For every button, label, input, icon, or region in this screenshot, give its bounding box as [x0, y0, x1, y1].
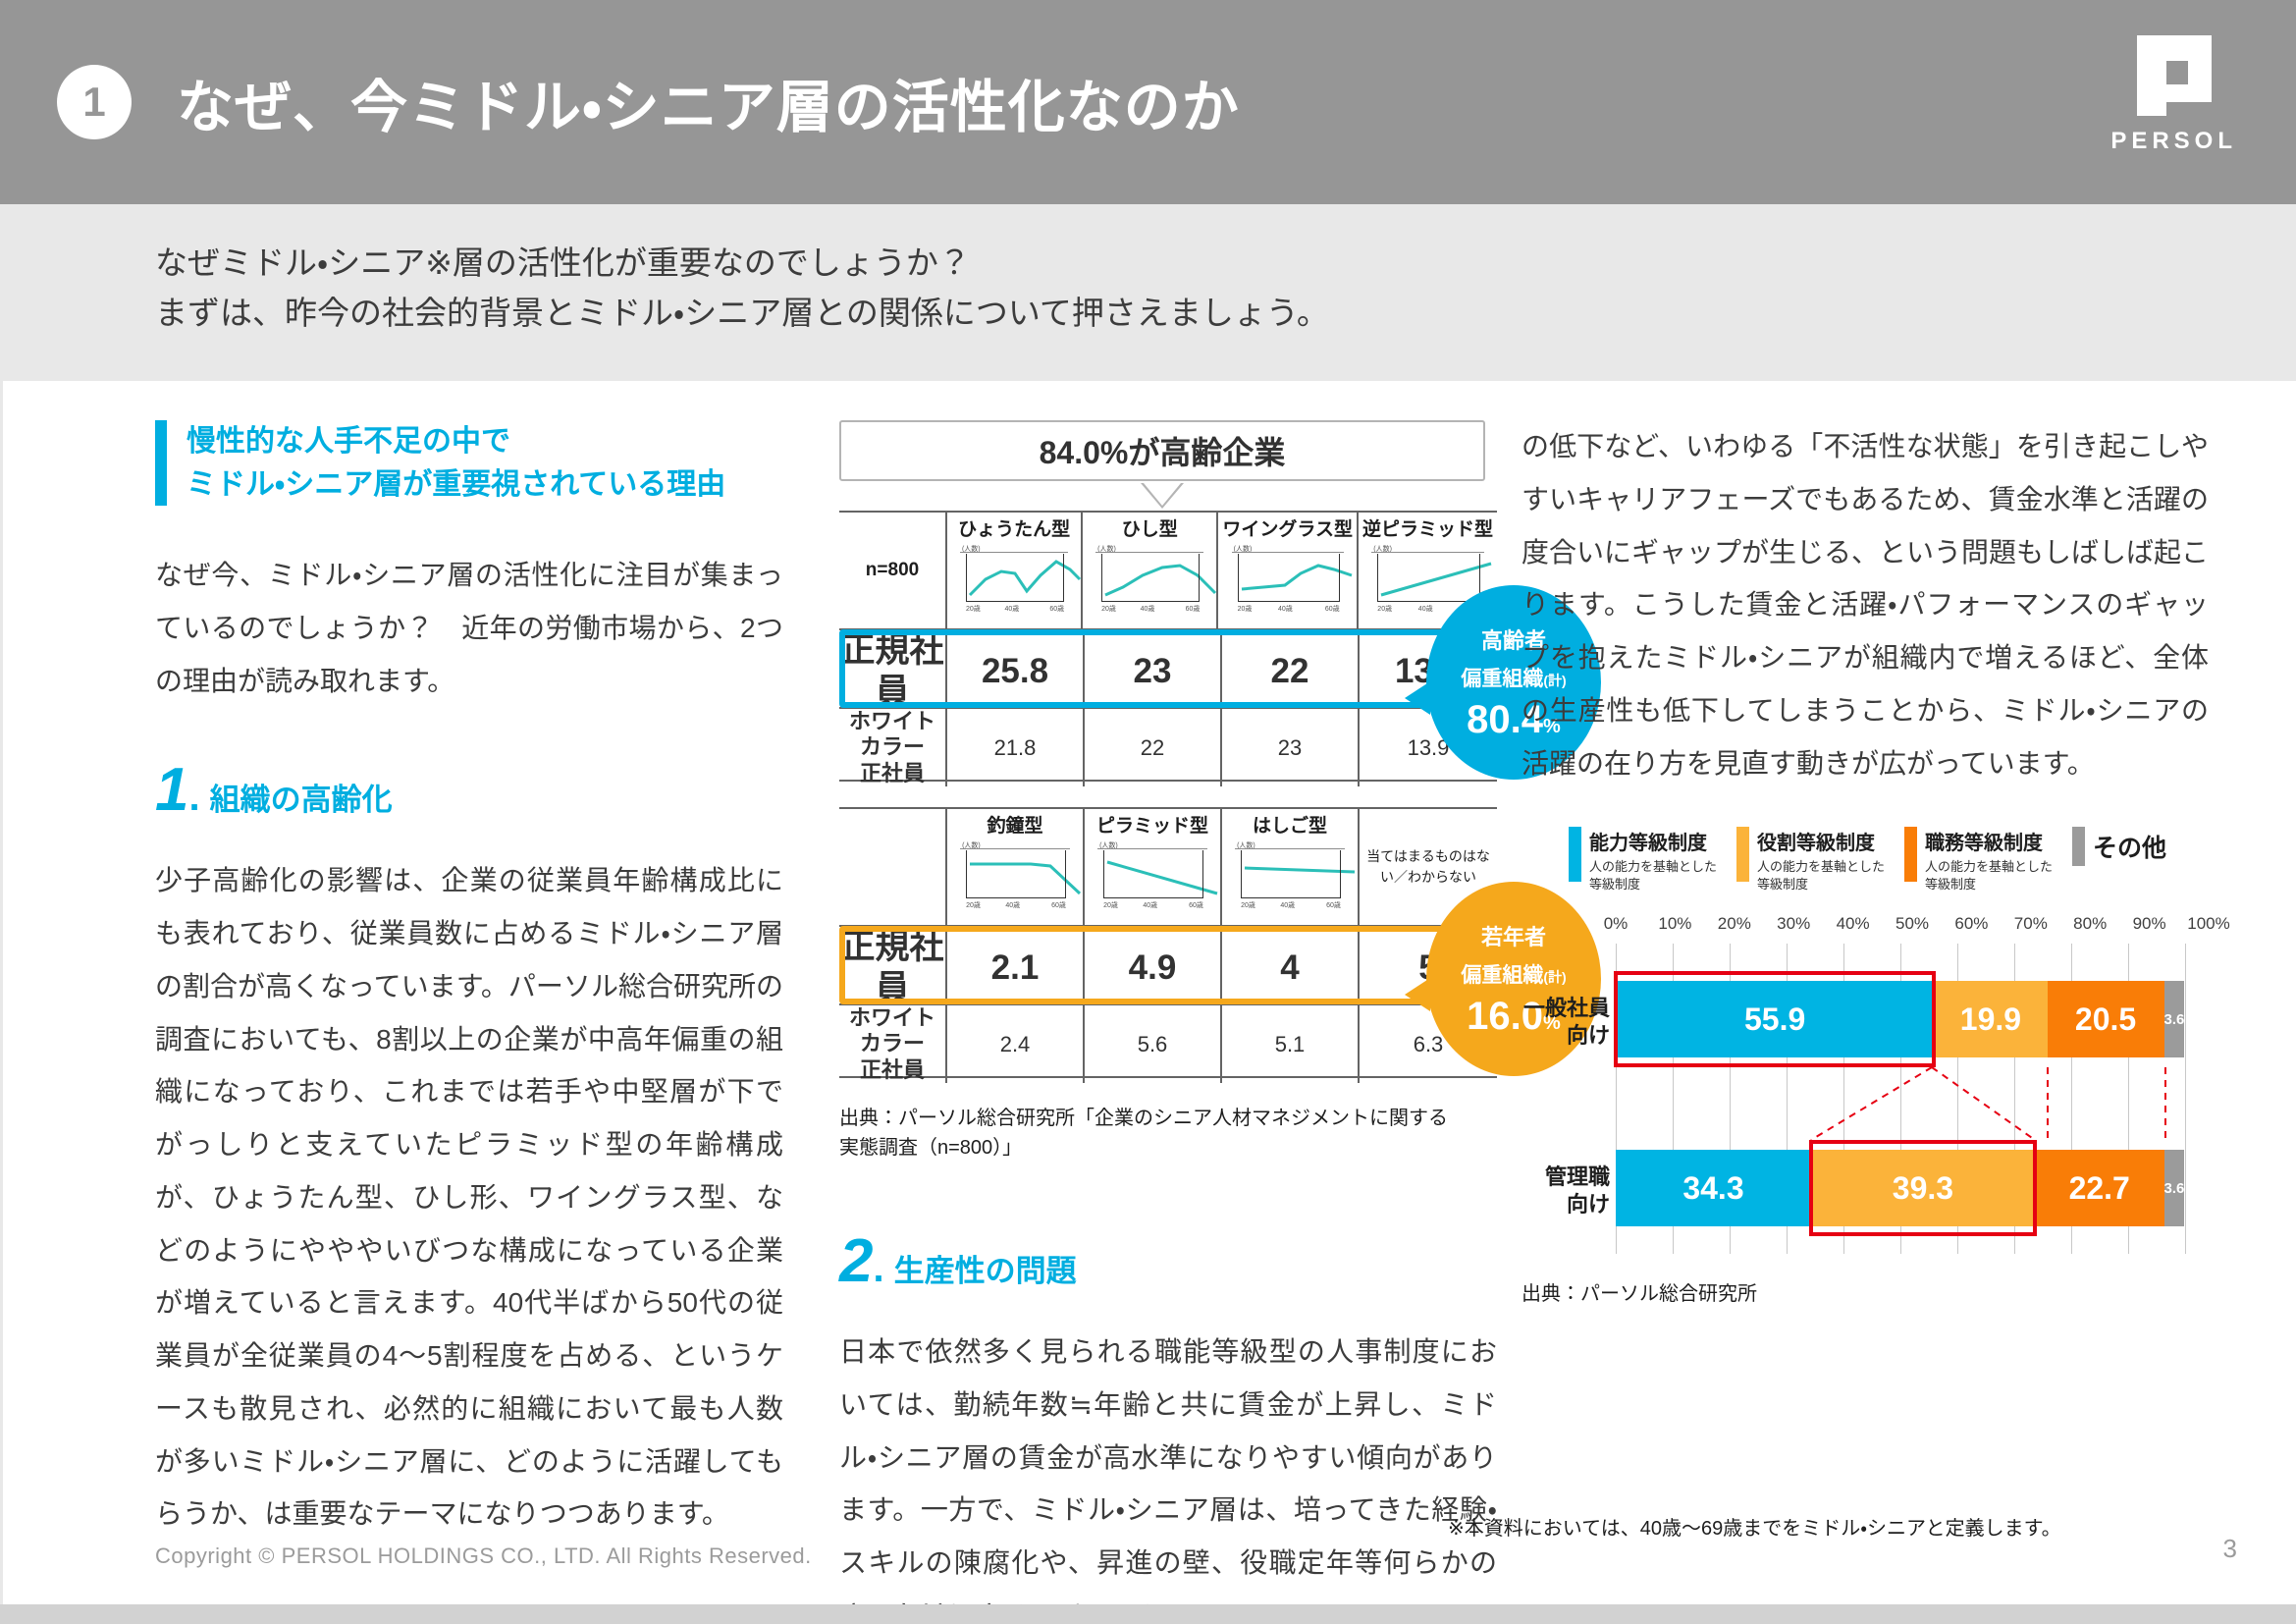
table-row: 正規社員 2.1 4.9 4 5: [839, 927, 1497, 1003]
col-title: はしご型: [1226, 809, 1354, 838]
right-source-note: 出典：パーソル総合研究所: [1522, 1279, 2209, 1309]
subtitle-band: なぜミドル・シニア※層の活性化が重要なのでしょうか？ まずは、昨今の社会的背景と…: [0, 204, 2296, 381]
section-number-badge: 1: [57, 65, 132, 139]
table-cell: 21.8: [947, 709, 1085, 786]
persol-logo-mark-icon: [2137, 35, 2212, 116]
x-tick: 100%: [2187, 914, 2229, 934]
legend-sublabel: 人の能力を基軸とした等級制度: [1757, 858, 1885, 893]
mini-chart-diamond: (人数) 20歳 40歳 60歳: [1095, 545, 1203, 614]
x-tick: 80%: [2073, 914, 2107, 934]
table-col-header: ひし型 (人数) 20歳 40歳 60歳: [1083, 513, 1218, 628]
x-tick: 0%: [1604, 914, 1629, 934]
table-cell: 22: [1085, 709, 1222, 786]
col-title-none: 当てはまるものはない／わからない: [1363, 846, 1493, 888]
col-title: ひし型: [1087, 513, 1212, 541]
table-cell: 23: [1222, 709, 1360, 786]
table-col-header: ワイングラス型 (人数) 20歳 40歳 60歳: [1218, 513, 1359, 628]
col-title: 逆ピラミッド型: [1362, 513, 1493, 541]
col-title: ワイングラス型: [1222, 513, 1353, 541]
row-label-white-collar: ホワイトカラー正社員: [839, 1005, 947, 1083]
section-heading-line-1: 慢性的な人手不足の中で: [187, 420, 725, 463]
table-cell: 5.1: [1222, 1005, 1360, 1083]
legend-sublabel: 人の能力を基軸とした等級制度: [1589, 858, 1717, 893]
bar-segment-other: 3.6: [2164, 981, 2185, 1057]
bar-segment-noryoku: 55.9: [1616, 981, 1934, 1057]
table-cell: 25.8: [947, 630, 1085, 713]
x-tick: 30%: [1777, 914, 1810, 934]
table-row: 正規社員 25.8 23 22 13.3: [839, 630, 1497, 707]
heading-2-label: 生産性の問題: [894, 1246, 1077, 1290]
bar-segment-shokumu: 20.5: [2048, 981, 2164, 1057]
legend-item-shokumu: 職務等級制度 人の能力を基軸とした等級制度: [1904, 827, 2053, 893]
table-cell: 22: [1222, 630, 1360, 713]
x-tick: 10%: [1658, 914, 1691, 934]
left-edge-rule: [0, 381, 3, 1624]
spacer-cell: [839, 809, 947, 925]
subtitle-line-2: まずは、昨今の社会的背景とミドル・シニア層との関係について押さえましょう。: [155, 288, 2296, 338]
table-header-row-2: 釣鐘型 (人数) 20歳 40歳 60歳 ピラミッド型 (人数): [839, 809, 1497, 925]
heading-1-label: 組織の高齢化: [210, 775, 393, 819]
paragraph-organization-aging: 少子高齢化の影響は、企業の従業員年齢構成比にも表れており、従業員数に占めるミドル…: [155, 854, 783, 1541]
source-line-1: 出典：パーソル総合研究所「企業のシニア人材マネジメントに関する: [839, 1104, 1497, 1133]
definition-footnote: ※本資料においては、40歳〜69歳までをミドル・シニアと定義します。: [1448, 1512, 2061, 1541]
left-column: 慢性的な人手不足の中で ミドル・シニア層が重要視されている理由 なぜ今、ミドル・…: [155, 420, 783, 1541]
bar-segment-yakuwari: 19.9: [1934, 981, 2047, 1057]
accent-bar: [155, 420, 167, 506]
row-label-regular: 正規社員: [839, 630, 947, 713]
right-column: の低下など、いわゆる「不活性な状態」を引き起こしやすいキャリアフェーズでもあるた…: [1522, 420, 2209, 1309]
table-col-header: 釣鐘型 (人数) 20歳 40歳 60歳: [947, 809, 1085, 925]
page-title: なぜ、今ミドル・シニア層の活性化なのか: [177, 61, 1240, 143]
persol-logo-text: PERSOL: [2110, 128, 2237, 155]
x-tick: 40%: [1837, 914, 1870, 934]
bar-row-label: 管理職向け: [1522, 1164, 1610, 1218]
x-axis-tick-labels: 0% 10% 20% 30% 40% 50% 60% 70% 80% 90% 1…: [1616, 914, 2209, 940]
mini-chart-bell: (人数) 20歳 40歳 60歳: [960, 841, 1070, 910]
legend-swatch-icon: [1736, 827, 1749, 882]
x-tick: 50%: [1896, 914, 1929, 934]
bar-segment-shokumu: 22.7: [2035, 1150, 2164, 1226]
table-cell: 4: [1222, 927, 1360, 1009]
center-source-note: 出典：パーソル総合研究所「企業のシニア人材マネジメントに関する 実態調査（n=8…: [839, 1104, 1497, 1163]
legend-item-other: その他: [2072, 827, 2166, 866]
persol-logo: PERSOL: [2110, 35, 2237, 155]
col-title: ひょうたん型: [951, 513, 1077, 541]
heading-1-dot: .: [188, 776, 199, 820]
table-cell: 23: [1085, 630, 1222, 713]
table-col-header: ピラミッド型 (人数) 20歳 40歳 60歳: [1085, 809, 1222, 925]
heading-2-number: 2: [839, 1231, 871, 1292]
bar-row-managers: 管理職向け 34.3 39.3 22.7 3.6: [1616, 1150, 2185, 1226]
table-cell: 2.1: [947, 927, 1085, 1009]
x-tick: 70%: [2014, 914, 2048, 934]
legend-item-yakuwari: 役割等級制度 人の能力を基軸とした等級制度: [1736, 827, 1885, 893]
legend-label: 能力等級制度: [1589, 827, 1717, 855]
paragraph-productivity: 日本で依然多く見られる職能等級型の人事制度においては、勤続年数≒年齢と共に賃金が…: [839, 1326, 1497, 1624]
copyright-text: Copyright © PERSOL HOLDINGS CO., LTD. Al…: [155, 1543, 812, 1569]
section-heading-text: 慢性的な人手不足の中で ミドル・シニア層が重要視されている理由: [187, 420, 725, 506]
bar-row-general-staff: 一般社員向け 55.9 19.9 20.5 3.6: [1616, 981, 2185, 1057]
heading-2-dot: .: [873, 1247, 883, 1291]
legend-swatch-icon: [1569, 827, 1581, 882]
table-col-header: ひょうたん型 (人数) 20歳 40歳 60歳: [947, 513, 1083, 628]
bar-row-label: 一般社員向け: [1522, 995, 1610, 1049]
chart-callout-box: 84.0%が高齢企業: [839, 420, 1485, 481]
bar-segment-yakuwari: 39.3: [1811, 1150, 2035, 1226]
legend-item-noryoku: 能力等級制度 人の能力を基軸とした等級制度: [1569, 827, 1717, 893]
center-column: 84.0%が高齢企業 n=800 ひょうたん型 (人数) 20歳 40歳: [839, 420, 1497, 1624]
heading-1-number: 1: [155, 760, 187, 821]
slide-root: 1 なぜ、今ミドル・シニア層の活性化なのか PERSOL なぜミドル・シニア※層…: [0, 0, 2296, 1624]
bar-segment-noryoku: 34.3: [1616, 1150, 1811, 1226]
mini-chart-pyramid: (人数) 20歳 40歳 60歳: [1097, 841, 1207, 910]
table-cell: 2.4: [947, 1005, 1085, 1083]
section-heading-line-2: ミドル・シニア層が重要視されている理由: [187, 463, 725, 507]
footer-bar: [0, 1604, 2296, 1624]
bar-chart-legend: 能力等級制度 人の能力を基軸とした等級制度 役割等級制度 人の能力を基軸とした等…: [1569, 827, 2209, 893]
row-label-regular: 正規社員: [839, 927, 947, 1009]
chart-callout-text: 84.0%が高齢企業: [1040, 428, 1286, 473]
heading-organization-aging: 1 . 組織の高齢化: [155, 760, 783, 821]
slide-header: 1 なぜ、今ミドル・シニア層の活性化なのか PERSOL: [0, 0, 2296, 204]
table-cell: 4.9: [1085, 927, 1222, 1009]
row-label-white-collar: ホワイトカラー正社員: [839, 709, 947, 786]
table-cell: 5.6: [1085, 1005, 1222, 1083]
x-tick: 90%: [2133, 914, 2166, 934]
mini-chart-gourd: (人数) 20歳 40歳 60歳: [960, 545, 1068, 614]
sample-size-label: n=800: [839, 513, 947, 628]
col-title: ピラミッド型: [1089, 809, 1216, 838]
intro-paragraph: なぜ今、ミドル・シニア層の活性化に注目が集まっているのでしょうか？ 近年の労働市…: [155, 549, 783, 707]
subtitle-line-1: なぜミドル・シニア※層の活性化が重要なのでしょうか？: [155, 204, 2296, 288]
section-heading: 慢性的な人手不足の中で ミドル・シニア層が重要視されている理由: [155, 420, 783, 506]
x-tick: 20%: [1718, 914, 1751, 934]
table-row: ホワイトカラー正社員 2.4 5.6 5.1 6.3: [839, 1005, 1497, 1076]
source-line-2: 実態調査（n=800）」: [839, 1133, 1497, 1163]
bar-segment-other: 3.6: [2164, 1150, 2185, 1226]
legend-label: 役割等級制度: [1757, 827, 1885, 855]
heading-productivity: 2 . 生産性の問題: [839, 1231, 1497, 1292]
mini-chart-ladder: (人数) 20歳 40歳 60歳: [1235, 841, 1345, 910]
legend-label: その他: [2093, 829, 2166, 864]
table-col-header: はしご型 (人数) 20歳 40歳 60歳: [1222, 809, 1360, 925]
bar-chart-plot-area: 一般社員向け 55.9 19.9 20.5 3.6 管理職向け 34.3 39.…: [1616, 944, 2185, 1254]
grading-system-bar-chart: 0% 10% 20% 30% 40% 50% 60% 70% 80% 90% 1…: [1522, 914, 2209, 1268]
legend-sublabel: 人の能力を基軸とした等級制度: [1925, 858, 2053, 893]
mini-chart-wineglass: (人数) 20歳 40歳 60歳: [1232, 545, 1344, 614]
legend-swatch-icon: [2072, 827, 2085, 866]
col-title: 釣鐘型: [951, 809, 1079, 838]
paragraph-right: の低下など、いわゆる「不活性な状態」を引き起こしやすいキャリアフェーズでもあるた…: [1522, 420, 2209, 789]
callout-pointer: [1141, 483, 1184, 509]
table-row: ホワイトカラー正社員 21.8 22 23 13.9: [839, 709, 1497, 780]
legend-label: 職務等級制度: [1925, 827, 2053, 855]
page-number: 3: [2223, 1534, 2237, 1564]
table-header-row-1: n=800 ひょうたん型 (人数) 20歳 40歳 60歳 ひし型: [839, 513, 1497, 628]
legend-swatch-icon: [1904, 827, 1917, 882]
aging-distribution-table: n=800 ひょうたん型 (人数) 20歳 40歳 60歳 ひし型: [839, 511, 1497, 1078]
x-tick: 60%: [1954, 914, 1988, 934]
